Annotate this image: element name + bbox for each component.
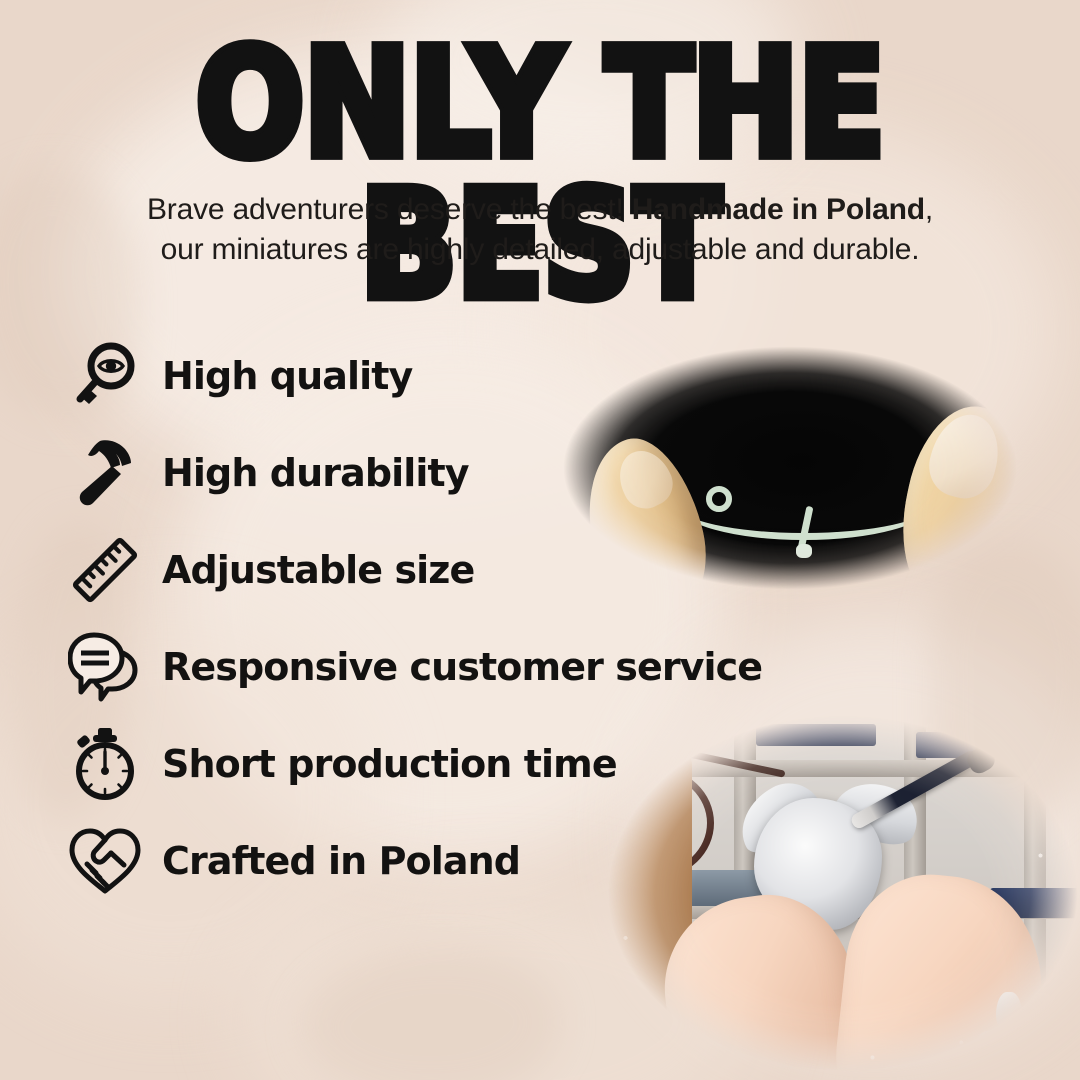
feature-item-high-quality: High quality — [62, 327, 782, 424]
feature-item-production-time: Short production time — [62, 715, 782, 812]
handshake-heart-icon — [62, 818, 148, 904]
feature-label: Adjustable size — [162, 548, 474, 592]
feature-label: High quality — [162, 354, 412, 398]
unpainted-miniature — [978, 1030, 1018, 1052]
background-texture-blot — [300, 950, 560, 1080]
promo-banner: ONLY THE BEST Brave adventurers deserve … — [0, 0, 1080, 1080]
subtitle-line1-lead: Brave adventurers deserve the best! — [147, 193, 632, 226]
subtitle-line1-tail: , — [925, 193, 933, 226]
page-title: ONLY THE BEST — [0, 34, 1080, 316]
magnifier-eye-icon — [62, 333, 148, 419]
subtitle: Brave adventurers deserve the best! Hand… — [90, 190, 990, 270]
feature-label: Short production time — [162, 742, 617, 786]
chat-bubbles-icon — [62, 624, 148, 710]
subtitle-highlight: Handmade in Poland — [632, 193, 925, 226]
feature-label: Crafted in Poland — [162, 839, 520, 883]
stopwatch-icon — [62, 721, 148, 807]
feature-label: High durability — [162, 451, 469, 495]
feature-label: Responsive customer service — [162, 645, 762, 689]
ruler-icon — [62, 527, 148, 613]
feature-item-adjustable-size: Adjustable size — [62, 521, 782, 618]
unpainted-miniature — [996, 992, 1022, 1030]
hammer-icon — [62, 430, 148, 516]
feature-item-customer-service: Responsive customer service — [62, 618, 782, 715]
feature-list: High quality High durability — [62, 327, 782, 909]
subtitle-line2: our miniatures are highly detailed, adju… — [161, 233, 920, 266]
feature-item-high-durability: High durability — [62, 424, 782, 521]
miniature-strap-tip — [796, 544, 812, 558]
feature-item-crafted-in-poland: Crafted in Poland — [62, 812, 782, 909]
